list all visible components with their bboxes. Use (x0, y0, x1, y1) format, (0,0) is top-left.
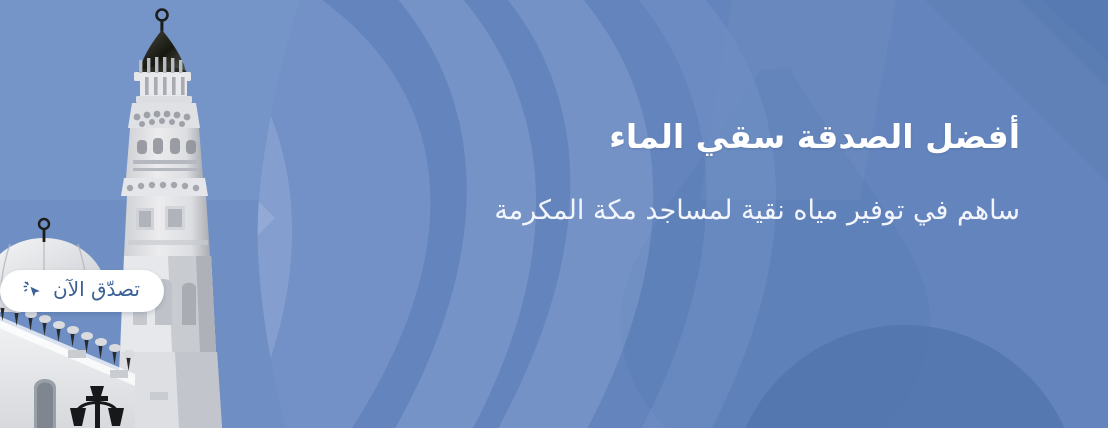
cta-row: تصدّق الآن (0, 270, 1020, 312)
donate-now-button[interactable]: تصدّق الآن (0, 270, 164, 312)
banner-subtitle: ساهم في توفير مياه نقية لمساجد مكة المكر… (0, 193, 1020, 229)
donate-now-label: تصدّق الآن (53, 279, 140, 301)
cursor-click-icon (22, 279, 44, 301)
page-title: أفضل الصدقة سقي الماء (0, 116, 1020, 157)
donation-hero-banner: أفضل الصدقة سقي الماء ساهم في توفير مياه… (0, 0, 1108, 428)
